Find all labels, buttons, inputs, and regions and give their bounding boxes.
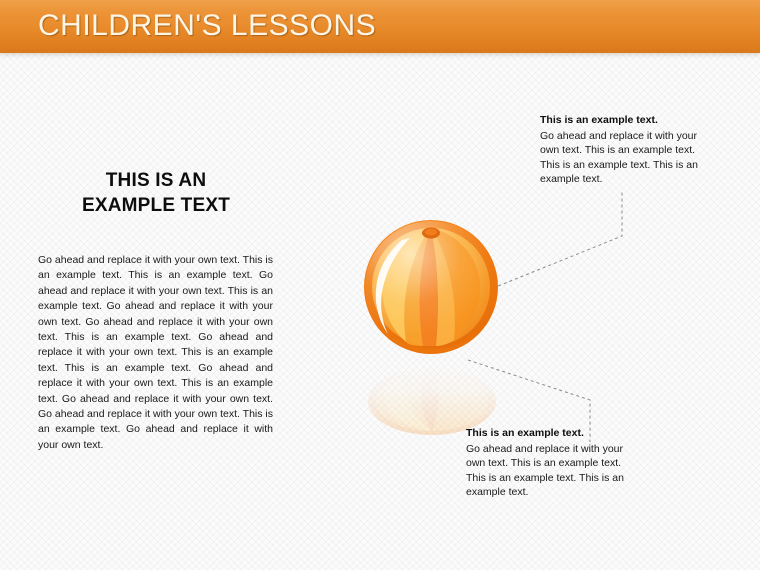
callout-bottom: This is an example text. Go ahead and re… xyxy=(466,426,642,500)
callout-bottom-title: This is an example text. xyxy=(466,426,642,441)
callout-top-title: This is an example text. xyxy=(540,113,716,128)
left-heading-line-1: THIS IS AN xyxy=(38,168,274,193)
callout-top-body: Go ahead and replace it with your own te… xyxy=(540,130,698,186)
beach-ball-graphic xyxy=(360,210,505,440)
left-heading-line-2: EXAMPLE TEXT xyxy=(38,193,274,218)
left-body-text: Go ahead and replace it with your own te… xyxy=(38,253,273,453)
page-title: CHILDREN'S LESSONS xyxy=(38,9,376,43)
beach-ball-icon xyxy=(362,210,500,365)
slide: CHILDREN'S LESSONS THIS IS AN EXAMPLE TE… xyxy=(0,0,760,570)
left-heading: THIS IS AN EXAMPLE TEXT xyxy=(38,168,274,218)
header-band: CHILDREN'S LESSONS xyxy=(0,0,760,53)
callout-top: This is an example text. Go ahead and re… xyxy=(540,113,716,187)
callout-bottom-body: Go ahead and replace it with your own te… xyxy=(466,443,624,499)
